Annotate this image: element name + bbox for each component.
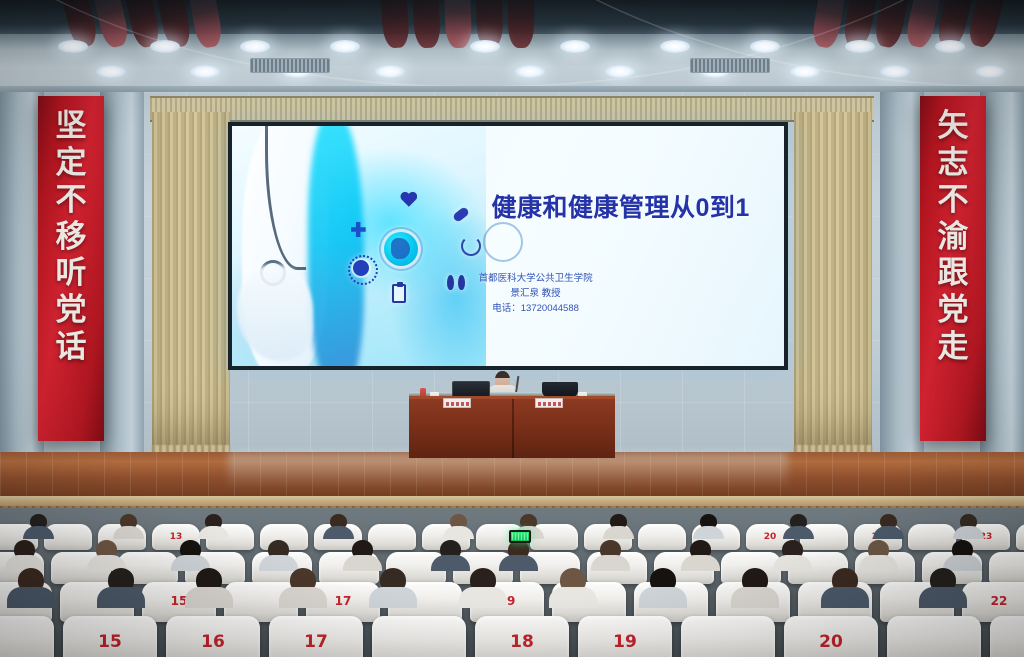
seat-number: 17 (335, 594, 352, 608)
nameplate-left (443, 398, 471, 408)
recording-phone[interactable] (509, 530, 531, 543)
downlight-row2-4 (515, 65, 545, 78)
audience-shoulders (459, 587, 507, 607)
seat-nearest-9[interactable] (887, 616, 981, 657)
downlight-row1-0 (58, 40, 88, 53)
right-banner-char-3: 渝 (938, 221, 969, 254)
left-banner-char-1: 定 (56, 147, 87, 180)
left-banner-char-5: 党 (56, 294, 87, 327)
seat-number: 18 (510, 632, 534, 652)
seat-number: 17 (304, 632, 328, 652)
audience-shoulders (639, 587, 687, 607)
slide-subtitle-line-0: 首都医科大学公共卫生学院 (479, 272, 593, 287)
seat-nearest-3[interactable]: 17 (269, 616, 363, 657)
seat-nearest-7[interactable] (681, 616, 775, 657)
seat-back-12[interactable] (638, 524, 686, 550)
seat-middle-15[interactable] (989, 552, 1024, 584)
downlight-row1-1 (150, 40, 180, 53)
downlight-row1-3 (330, 40, 360, 53)
presentation-slide: 健康和健康管理从0到1 首都医科大学公共卫生学院景汇泉 教授电话：1372004… (232, 126, 784, 366)
downlight-row1-4 (470, 40, 500, 53)
audience-shoulders (499, 555, 538, 571)
curtain-pelmet (150, 96, 874, 122)
downlight-row1-9 (935, 40, 965, 53)
slide-subtitle-line-1: 景汇泉 教授 (479, 287, 593, 302)
seat-number: 15 (98, 632, 122, 652)
seat-nearest-10[interactable]: 21 (990, 616, 1024, 657)
audience-shoulders (773, 555, 812, 571)
downlight-row2-1 (190, 65, 220, 78)
audience-shoulders (919, 587, 967, 607)
audience-shoulders (343, 555, 382, 571)
downlight-row2-0 (96, 65, 126, 78)
left-banner-char-2: 不 (56, 184, 87, 217)
clipboard-icon (392, 284, 406, 303)
seat-number: 22 (991, 594, 1008, 608)
ceiling (0, 0, 1024, 96)
stage-curtain-right (794, 112, 872, 457)
right-banner-char-0: 矢 (938, 110, 969, 143)
air-vent-left (250, 58, 330, 73)
audience-shoulders (681, 555, 720, 571)
audience-shoulders (731, 587, 779, 607)
virus-icon (353, 260, 369, 276)
downlight-row2-5 (605, 65, 635, 78)
audience-shoulders (185, 587, 233, 607)
left-red-banner: 坚定不移听党话 (38, 96, 104, 441)
slide-title: 健康和健康管理从0到1 (491, 188, 749, 224)
audience-shoulders (7, 587, 55, 607)
downlight-row1-7 (750, 40, 780, 53)
downlight-row2-7 (790, 65, 820, 78)
left-banner-char-6: 话 (56, 331, 87, 364)
downlight-row1-6 (660, 40, 690, 53)
right-banner-char-4: 跟 (938, 257, 969, 290)
downlight-row1-5 (560, 40, 590, 53)
slide-subtitle: 首都医科大学公共卫生学院景汇泉 教授电话：13720044588 (479, 272, 593, 316)
seat-back-7[interactable] (368, 524, 416, 550)
left-banner-char-0: 坚 (56, 110, 87, 143)
slide-subtitle-line-2: 电话：13720044588 (479, 302, 593, 317)
seat-back-17[interactable] (908, 524, 956, 550)
doctor-hand (237, 265, 313, 361)
downlight-row2-3 (375, 65, 405, 78)
pillar-left-inner (100, 92, 144, 464)
decor-ring-icon (483, 222, 523, 262)
seat-number: 20 (764, 532, 777, 542)
left-banner-char-3: 移 (56, 221, 87, 254)
audience-shoulders (431, 555, 470, 571)
right-banner-char-5: 党 (938, 294, 969, 327)
speaker-podium (409, 396, 615, 458)
seat-nearest-2[interactable]: 16 (166, 616, 260, 657)
downlight-row1-8 (845, 40, 875, 53)
seat-number: 13 (170, 532, 183, 542)
pillar-right-outer (980, 92, 1024, 464)
stage-curtain-left (152, 112, 230, 457)
right-red-banner: 矢志不渝跟党走 (920, 96, 986, 441)
right-banner-char-2: 不 (938, 184, 969, 217)
downlight-row1-2 (240, 40, 270, 53)
seat-number: 20 (819, 632, 843, 652)
seat-nearest-5[interactable]: 18 (475, 616, 569, 657)
second-laptop (542, 382, 578, 397)
downlight-row2-8 (880, 65, 910, 78)
cyan-gradient-wash (308, 126, 364, 366)
audience-seating: 13202123 151719202122 15161718192021 (0, 508, 1024, 657)
right-banner-char-1: 志 (938, 147, 969, 180)
audience-shoulders (821, 587, 869, 607)
audience-shoulders (97, 587, 145, 607)
right-banner-char-6: 走 (938, 331, 969, 364)
downlight-row2-9 (975, 65, 1005, 78)
air-vent-right (690, 58, 770, 73)
seat-nearest-8[interactable]: 20 (784, 616, 878, 657)
slide-photo-background (232, 126, 486, 366)
audience-shoulders (859, 555, 898, 571)
seat-nearest-1[interactable]: 15 (63, 616, 157, 657)
audience-shoulders (591, 555, 630, 571)
pillar-right-inner (880, 92, 924, 464)
audience-shoulders (369, 587, 417, 607)
audience-shoulders (549, 587, 597, 607)
auditorium-scene: 坚定不移听党话 矢志不渝跟党走 健康和健康管理从0到1 首都医科大学公共卫生学院… (0, 0, 1024, 657)
lungs-icon (447, 275, 465, 290)
left-banner-char-4: 听 (56, 257, 87, 290)
seat-number: 19 (613, 632, 637, 652)
audience-shoulders (259, 555, 298, 571)
globe-icon (384, 232, 418, 266)
seat-nearest-4[interactable] (372, 616, 466, 657)
audience-shoulders (279, 587, 327, 607)
seat-number: 16 (201, 632, 225, 652)
seat-nearest-6[interactable]: 19 (578, 616, 672, 657)
projection-screen-frame: 健康和健康管理从0到1 首都医科大学公共卫生学院景汇泉 教授电话：1372004… (228, 122, 788, 370)
nameplate-right (535, 398, 563, 408)
seat-nearest-0[interactable] (0, 616, 54, 657)
